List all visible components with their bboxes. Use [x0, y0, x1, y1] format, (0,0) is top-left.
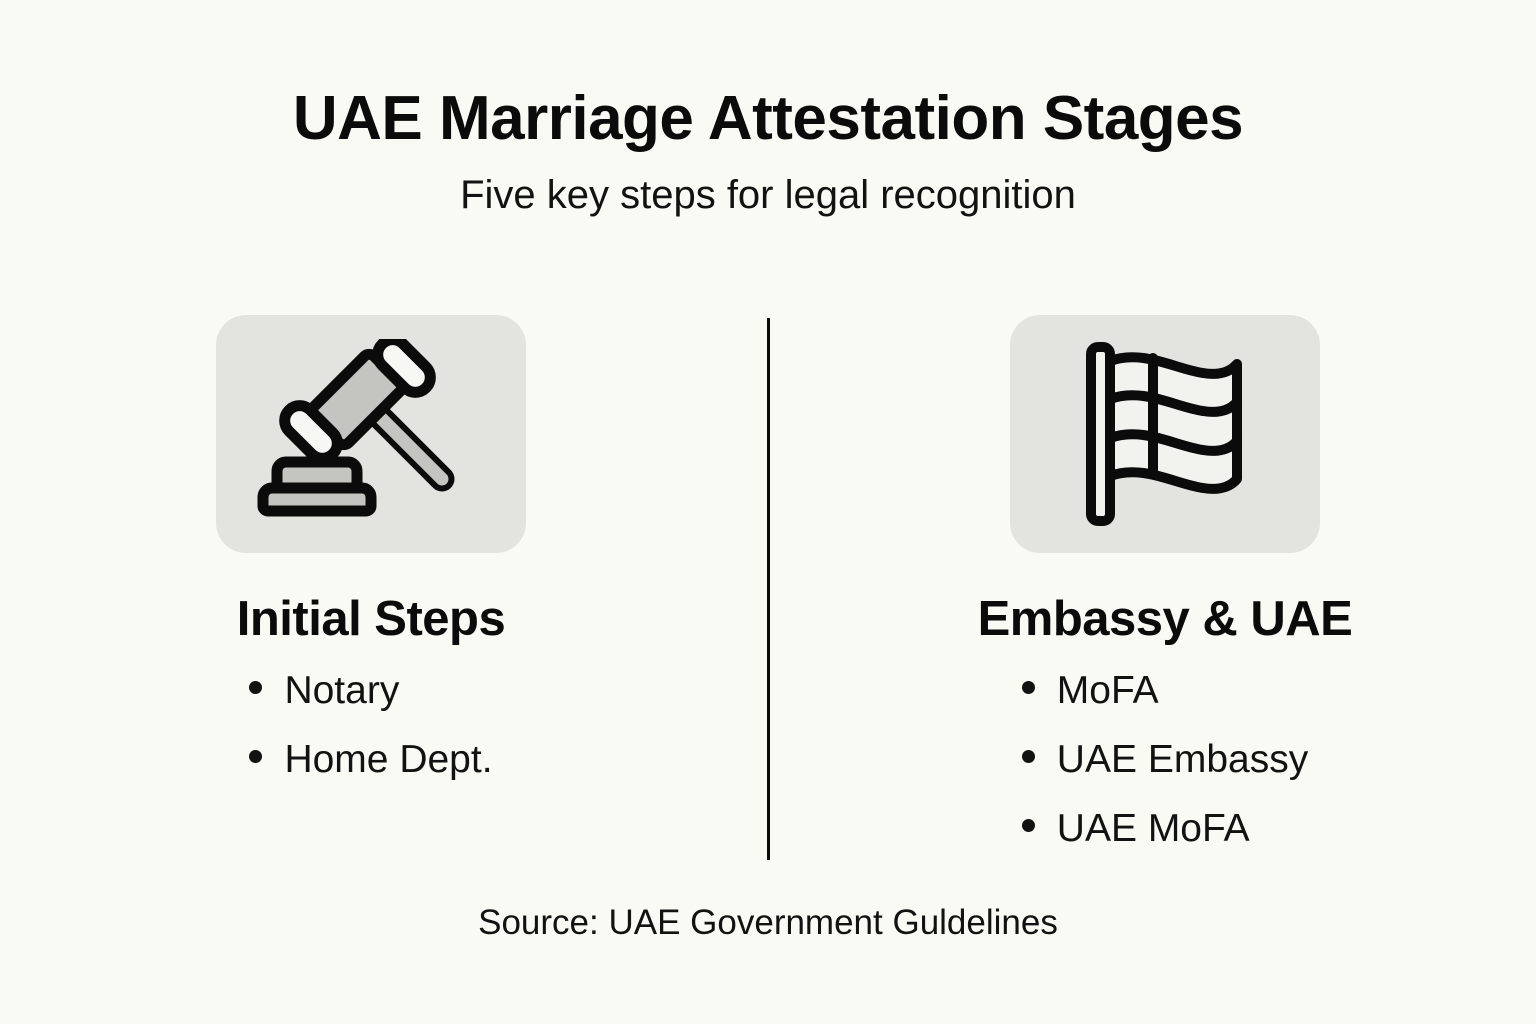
stage-columns: Initial Steps Notary Home Dept.	[0, 315, 1536, 848]
bullet-dot-icon	[249, 681, 262, 694]
stage-column-embassy-uae: Embassy & UAE MoFA UAE Embassy UAE MoFA	[768, 315, 1536, 848]
flag-icon	[1065, 339, 1265, 529]
header: UAE Marriage Attestation Stages Five key…	[0, 86, 1536, 217]
gavel-icon	[256, 339, 486, 529]
list-item: UAE MoFA	[1022, 809, 1308, 848]
bullet-dot-icon	[1022, 681, 1035, 694]
page-subtitle: Five key steps for legal recognition	[0, 173, 1536, 217]
list-item-label: UAE Embassy	[1057, 740, 1308, 779]
stage-column-initial-steps: Initial Steps Notary Home Dept.	[0, 315, 768, 779]
bullet-list-embassy-uae: MoFA UAE Embassy UAE MoFA	[1022, 671, 1308, 848]
column-heading-embassy-uae: Embassy & UAE	[978, 591, 1353, 647]
list-item: Notary	[249, 671, 492, 710]
list-item: MoFA	[1022, 671, 1308, 710]
bullet-dot-icon	[1022, 819, 1035, 832]
column-heading-initial-steps: Initial Steps	[237, 591, 506, 647]
gavel-icon-tile	[216, 315, 526, 553]
list-item: UAE Embassy	[1022, 740, 1308, 779]
source-note: Source: UAE Government Guldelines	[0, 903, 1536, 943]
bullet-dot-icon	[1022, 750, 1035, 763]
page-title: UAE Marriage Attestation Stages	[0, 86, 1536, 151]
list-item: Home Dept.	[249, 740, 492, 779]
bullet-dot-icon	[249, 750, 262, 763]
list-item-label: Notary	[284, 671, 399, 710]
flag-icon-tile	[1010, 315, 1320, 553]
infographic-canvas: UAE Marriage Attestation Stages Five key…	[0, 0, 1536, 1024]
list-item-label: Home Dept.	[284, 740, 492, 779]
list-item-label: MoFA	[1057, 671, 1159, 710]
list-item-label: UAE MoFA	[1057, 809, 1250, 848]
bullet-list-initial-steps: Notary Home Dept.	[249, 671, 492, 779]
